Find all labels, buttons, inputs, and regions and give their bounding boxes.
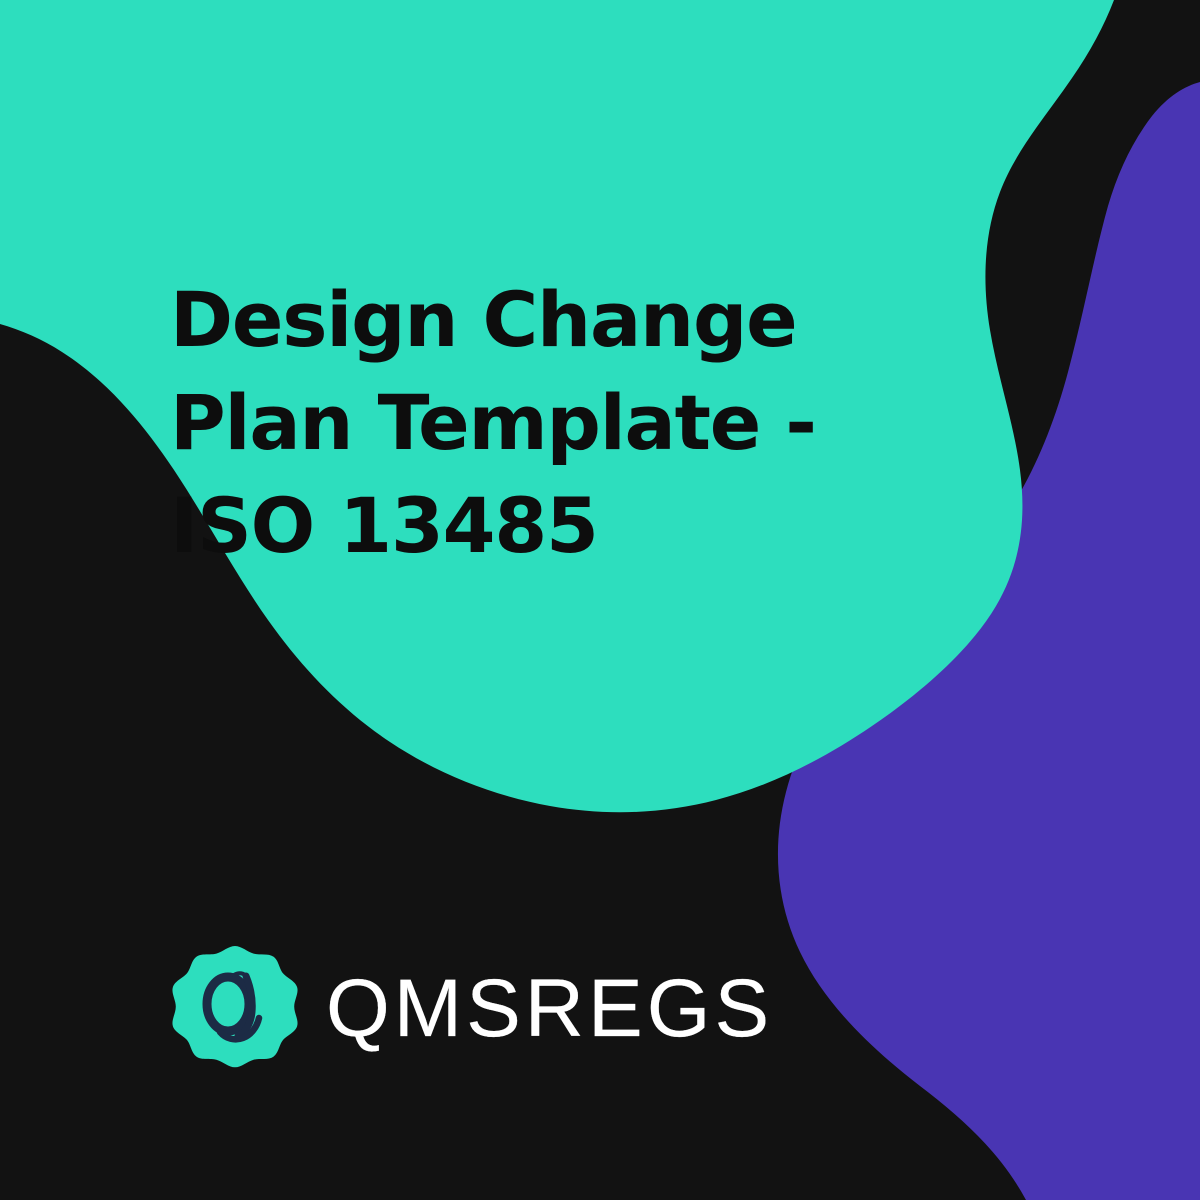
title-line-1: Design Change bbox=[170, 268, 810, 371]
title-line-3: ISO 13485 bbox=[170, 474, 810, 577]
brand-logo-lockup: QMSREGS bbox=[172, 944, 773, 1070]
badge-scallop-shape bbox=[172, 946, 297, 1067]
qmsregs-badge-icon bbox=[172, 944, 298, 1070]
page-title: Design Change Plan Template - ISO 13485 bbox=[170, 268, 810, 577]
brand-wordmark: QMSREGS bbox=[326, 968, 773, 1050]
promo-card: Design Change Plan Template - ISO 13485 bbox=[0, 0, 1200, 1200]
title-line-2: Plan Template - bbox=[170, 371, 810, 474]
